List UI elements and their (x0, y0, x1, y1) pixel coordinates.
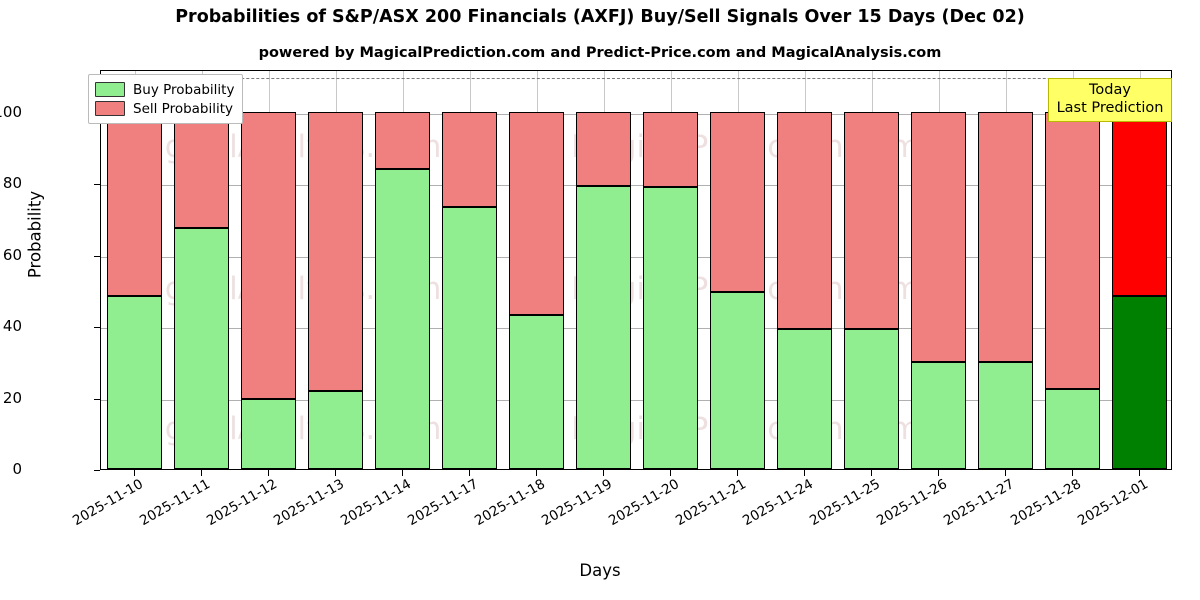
bar-stack[interactable] (911, 70, 966, 469)
bar-segment-sell (643, 112, 698, 187)
bar-stack[interactable] (241, 70, 296, 469)
y-axis-tick-label: 20 (0, 389, 22, 407)
x-axis-tick-mark (469, 470, 470, 476)
y-axis-label: Probability (26, 35, 45, 435)
x-axis-tick-mark (335, 470, 336, 476)
bar-segment-buy (174, 228, 229, 469)
bar-segment-sell (174, 112, 229, 228)
y-axis-tick-mark (94, 470, 100, 471)
bar-stack[interactable] (107, 70, 162, 469)
bar-segment-buy (107, 296, 162, 469)
bars-layer (101, 71, 1171, 469)
bar-segment-buy (777, 329, 832, 469)
legend-label-buy: Buy Probability (133, 82, 234, 98)
y-axis-tick-mark (94, 184, 100, 185)
bar-segment-sell (1112, 112, 1167, 296)
x-axis-tick-mark (1072, 470, 1073, 476)
bar-stack[interactable] (978, 70, 1033, 469)
x-axis-tick-mark (134, 470, 135, 476)
chart-subtitle: powered by MagicalPrediction.com and Pre… (0, 45, 1200, 61)
bar-segment-sell (107, 112, 162, 296)
bar-today[interactable] (1112, 70, 1167, 469)
x-axis-tick-mark (1005, 470, 1006, 476)
plot-area: MagicalAnalysis.comMagicalPrediction.com… (100, 70, 1172, 470)
chart-legend: Buy Probability Sell Probability (88, 74, 243, 124)
bar-segment-buy (576, 186, 631, 469)
bar-stack[interactable] (576, 70, 631, 469)
bar-stack[interactable] (375, 70, 430, 469)
x-axis-tick-mark (603, 470, 604, 476)
x-axis-tick-mark (268, 470, 269, 476)
bar-segment-sell (911, 112, 966, 362)
bar-stack[interactable] (643, 70, 698, 469)
y-axis-tick-label: 60 (0, 246, 22, 264)
legend-swatch-buy (95, 82, 125, 97)
bar-segment-sell (576, 112, 631, 186)
x-axis-tick-mark (804, 470, 805, 476)
bar-segment-buy (844, 329, 899, 469)
bar-stack[interactable] (1045, 70, 1100, 469)
y-axis-tick-label: 0 (0, 460, 22, 478)
bar-segment-buy (1112, 296, 1167, 469)
legend-item-buy[interactable]: Buy Probability (95, 80, 234, 99)
bar-stack[interactable] (844, 70, 899, 469)
x-axis-label: Days (0, 561, 1200, 580)
chart-title: Probabilities of S&P/ASX 200 Financials … (0, 7, 1200, 27)
y-axis-tick-label: 40 (0, 317, 22, 335)
y-axis-tick-label: 80 (0, 174, 22, 192)
bar-segment-sell (308, 112, 363, 391)
bar-segment-buy (442, 207, 497, 469)
bar-segment-buy (308, 391, 363, 469)
today-annotation: Today Last Prediction (1048, 78, 1172, 122)
bar-segment-sell (978, 112, 1033, 362)
x-axis-tick-mark (670, 470, 671, 476)
x-axis-tick-mark (938, 470, 939, 476)
legend-item-sell[interactable]: Sell Probability (95, 99, 234, 118)
bar-segment-buy (710, 292, 765, 469)
bar-stack[interactable] (442, 70, 497, 469)
y-axis-tick-mark (94, 399, 100, 400)
today-label-line1: Today (1051, 82, 1169, 100)
bar-segment-buy (911, 362, 966, 470)
bar-segment-buy (375, 169, 430, 469)
y-axis-tick-mark (94, 256, 100, 257)
x-axis-tick-mark (871, 470, 872, 476)
chart-root: Probabilities of S&P/ASX 200 Financials … (0, 0, 1200, 600)
x-axis-tick-mark (536, 470, 537, 476)
x-axis-tick-mark (201, 470, 202, 476)
bar-segment-sell (509, 112, 564, 316)
bar-segment-sell (241, 112, 296, 400)
bar-segment-sell (844, 112, 899, 329)
bar-stack[interactable] (710, 70, 765, 469)
y-axis-tick-label: 100 (0, 103, 22, 121)
bar-stack[interactable] (308, 70, 363, 469)
bar-segment-buy (509, 315, 564, 469)
bar-segment-sell (710, 112, 765, 292)
today-label-line2: Last Prediction (1051, 100, 1169, 118)
bar-segment-sell (1045, 112, 1100, 389)
bar-segment-sell (777, 112, 832, 330)
x-axis-tick-mark (1139, 470, 1140, 476)
x-axis-tick-mark (737, 470, 738, 476)
x-axis-tick-mark (402, 470, 403, 476)
bar-stack[interactable] (777, 70, 832, 469)
bar-segment-sell (442, 112, 497, 207)
bar-segment-buy (241, 399, 296, 469)
bar-segment-buy (978, 362, 1033, 469)
y-axis-tick-mark (94, 327, 100, 328)
legend-label-sell: Sell Probability (133, 101, 233, 117)
bar-segment-buy (643, 187, 698, 470)
legend-swatch-sell (95, 101, 125, 116)
bar-stack[interactable] (174, 70, 229, 469)
bar-segment-sell (375, 112, 430, 169)
bar-stack[interactable] (509, 70, 564, 469)
bar-segment-buy (1045, 389, 1100, 469)
